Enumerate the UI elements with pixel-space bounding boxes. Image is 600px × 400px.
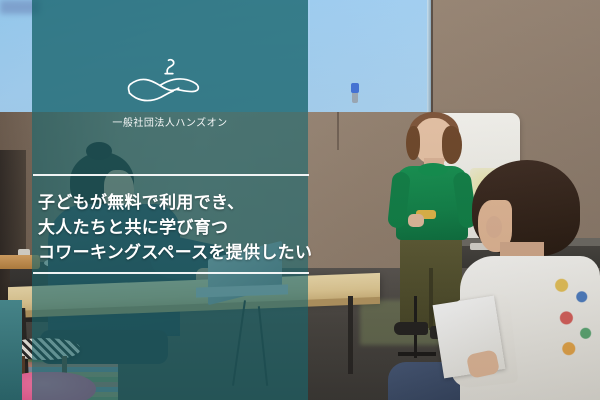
hand-with-sprout-icon — [124, 56, 216, 108]
table-leg-right — [348, 296, 353, 374]
screen-icon-stem — [352, 93, 358, 103]
projection-screen-edge — [427, 0, 431, 112]
speaker-hand — [408, 214, 424, 227]
headline-line-1: 子どもが無料で利用でき、 — [38, 190, 310, 215]
screen-blue-icon — [351, 83, 359, 93]
headline-line-3: コワーキングスペースを提供したい — [38, 240, 310, 265]
speaker-hair-right — [442, 126, 462, 164]
speaker-pants-seam — [429, 268, 433, 330]
reader-ear — [486, 216, 502, 238]
projection-screen-right — [310, 0, 430, 112]
divider-top — [33, 174, 309, 176]
slide-canvas: 一般社団法人ハンズオン 子どもが無料で利用でき、 大人たちと共に学び育つ コワー… — [0, 0, 600, 400]
organization-name: 一般社団法人ハンズオン — [32, 114, 308, 129]
mic-stand-foot — [398, 352, 436, 356]
speaker-shoe-left — [394, 322, 428, 335]
headline: 子どもが無料で利用でき、 大人たちと共に学び育つ コワーキングスペースを提供した… — [38, 190, 310, 265]
headline-line-2: 大人たちと共に学び育つ — [38, 215, 310, 240]
speaker-collar — [418, 163, 448, 176]
teal-floor-panel — [0, 300, 22, 400]
speaker-hair-left — [406, 126, 420, 160]
divider-bottom — [33, 272, 309, 274]
reader-shirt-print — [552, 268, 600, 364]
